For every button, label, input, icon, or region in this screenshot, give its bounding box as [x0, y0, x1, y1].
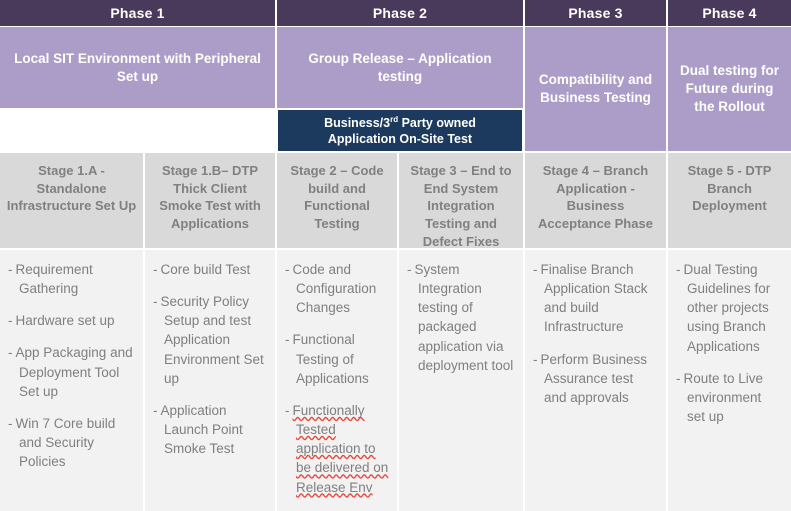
list-item: -Perform Business Assurance test and app… — [533, 350, 658, 407]
stage-header-1b: Stage 1.B– DTP Thick Client Smoke Test w… — [145, 153, 277, 248]
onsite-line1-pre: Business/3 — [324, 116, 390, 130]
onsite-line2: Application On-Site Test — [328, 132, 472, 146]
stage-header-5: Stage 5 - DTP Branch Deployment — [668, 153, 791, 248]
list-item-text: Application Launch Point Smoke Test — [161, 403, 243, 456]
stage-header-1a: Stage 1.A - Standalone Infrastructure Se… — [0, 153, 145, 248]
bullet-marker: - — [533, 262, 538, 277]
phase-description-2: Group Release – Application testing — [277, 27, 523, 108]
stage-content-row: -Requirement Gathering -Hardware set up … — [0, 250, 791, 511]
bullet-marker: - — [676, 262, 681, 277]
list-item: -Code and Configuration Changes — [285, 260, 389, 317]
onsite-line1-post: Party owned — [398, 116, 476, 130]
list-item-text: Hardware set up — [16, 313, 115, 328]
phase-1-empty-spacer — [0, 109, 275, 151]
stage-content-5: -Dual Testing Guidelines for other proje… — [668, 250, 791, 511]
list-item-text: Functionally Tested application to be de… — [293, 403, 389, 495]
bullet-list-1a: -Requirement Gathering -Hardware set up … — [8, 260, 135, 471]
phase-header-row: Phase 1 Phase 2 Phase 3 Phase 4 — [0, 0, 791, 26]
phase-description-col-1: Local SIT Environment with Peripheral Se… — [0, 27, 277, 151]
bullet-marker: - — [285, 403, 290, 418]
list-item-text: Requirement Gathering — [16, 262, 93, 296]
stage-content-4: -Finalise Branch Application Stack and b… — [525, 250, 668, 511]
list-item-text: Route to Live environment set up — [684, 371, 764, 424]
list-item: -App Packaging and Deployment Tool Set u… — [8, 343, 135, 400]
bullet-marker: - — [153, 403, 158, 418]
phase-description-col-2: Group Release – Application testing Busi… — [277, 27, 525, 151]
list-item-text: Core build Test — [161, 262, 251, 277]
list-item: -Finalise Branch Application Stack and b… — [533, 260, 658, 337]
phase-header-4: Phase 4 — [668, 0, 791, 26]
phase-header-2: Phase 2 — [277, 0, 525, 26]
list-item: -Win 7 Core build and Security Policies — [8, 414, 135, 471]
phase-description-col-3: Compatibility and Business Testing — [525, 27, 668, 151]
bullet-list-3: -System Integration testing of packaged … — [407, 260, 515, 375]
list-item-text: Security Policy Setup and test Applicati… — [161, 294, 264, 386]
bullet-marker: - — [285, 332, 290, 347]
list-item-text: Perform Business Assurance test and appr… — [541, 352, 648, 405]
bullet-marker: - — [676, 371, 681, 386]
bullet-marker: - — [153, 262, 158, 277]
phase-header-3: Phase 3 — [525, 0, 668, 26]
stage-header-4: Stage 4 – Branch Application - Business … — [525, 153, 668, 248]
onsite-test-band: Business/3rd Party owned Application On-… — [278, 110, 522, 151]
bullet-marker: - — [8, 262, 13, 277]
phase-description-row: Local SIT Environment with Peripheral Se… — [0, 27, 791, 151]
list-item-text: Code and Configuration Changes — [293, 262, 377, 315]
bullet-marker: - — [8, 345, 13, 360]
list-item: -Application Launch Point Smoke Test — [153, 401, 267, 458]
bullet-list-5: -Dual Testing Guidelines for other proje… — [676, 260, 783, 426]
list-item: -Security Policy Setup and test Applicat… — [153, 292, 267, 388]
list-item: -Dual Testing Guidelines for other proje… — [676, 260, 783, 356]
list-item: -Core build Test — [153, 260, 267, 279]
bullet-list-2: -Code and Configuration Changes -Functio… — [285, 260, 389, 497]
list-item-text: App Packaging and Deployment Tool Set up — [16, 345, 133, 398]
bullet-marker: - — [285, 262, 290, 277]
bullet-marker: - — [8, 313, 13, 328]
stage-header-2: Stage 2 – Code build and Functional Test… — [277, 153, 399, 248]
bullet-marker: - — [533, 352, 538, 367]
stage-content-3: -System Integration testing of packaged … — [399, 250, 525, 511]
list-item-text: Functional Testing of Applications — [293, 332, 369, 385]
bullet-marker: - — [407, 262, 412, 277]
stage-header-3: Stage 3 – End to End System Integration … — [399, 153, 525, 248]
list-item-text: Dual Testing Guidelines for other projec… — [684, 262, 771, 354]
phase-description-1: Local SIT Environment with Peripheral Se… — [0, 27, 275, 108]
stage-content-1a: -Requirement Gathering -Hardware set up … — [0, 250, 145, 511]
bullet-marker: - — [153, 294, 158, 309]
phase-description-3: Compatibility and Business Testing — [525, 27, 666, 151]
list-item-misspelled: -Functionally Tested application to be d… — [285, 401, 389, 497]
stage-content-2: -Code and Configuration Changes -Functio… — [277, 250, 399, 511]
list-item: -Functional Testing of Applications — [285, 330, 389, 387]
list-item: -Hardware set up — [8, 311, 135, 330]
list-item-text: Win 7 Core build and Security Policies — [16, 416, 116, 469]
bullet-marker: - — [8, 416, 13, 431]
phase-roadmap-diagram: Phase 1 Phase 2 Phase 3 Phase 4 Local SI… — [0, 0, 791, 511]
bullet-list-1b: -Core build Test -Security Policy Setup … — [153, 260, 267, 458]
phase-description-col-4: Dual testing for Future during the Rollo… — [668, 27, 791, 151]
phase-header-1: Phase 1 — [0, 0, 277, 26]
list-item: -Route to Live environment set up — [676, 369, 783, 426]
list-item-text: Finalise Branch Application Stack and bu… — [541, 262, 648, 334]
stage-header-row: Stage 1.A - Standalone Infrastructure Se… — [0, 153, 791, 248]
list-item: -Requirement Gathering — [8, 260, 135, 298]
stage-content-1b: -Core build Test -Security Policy Setup … — [145, 250, 277, 511]
onsite-ordinal-suffix: rd — [390, 114, 398, 123]
list-item-text: System Integration testing of packaged a… — [415, 262, 514, 373]
phase-description-4: Dual testing for Future during the Rollo… — [668, 27, 791, 151]
bullet-list-4: -Finalise Branch Application Stack and b… — [533, 260, 658, 407]
list-item: -System Integration testing of packaged … — [407, 260, 515, 375]
